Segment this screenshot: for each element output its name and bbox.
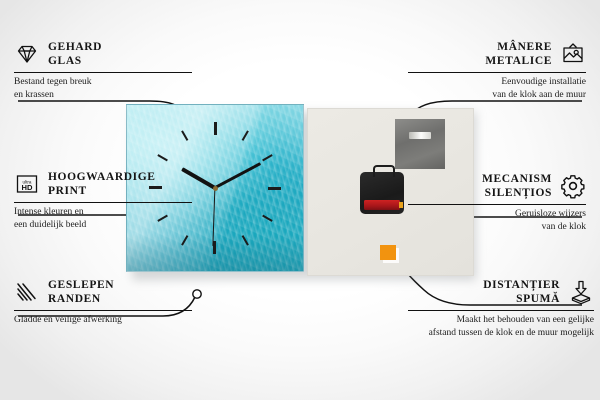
feature-distantier-spuma: DISTANȚIER SPUMĂ Maakt het behouden van …: [408, 278, 594, 339]
title-line-1: GESLEPEN: [48, 278, 114, 292]
desc-line-1: Gladde en veilige afwerking: [14, 314, 192, 327]
feature-head: DISTANȚIER SPUMĂ: [408, 278, 594, 310]
desc-line-2: een duidelijk beeld: [14, 219, 192, 232]
feature-head: ultra HD HOOGWAARDIGE PRINT: [14, 170, 192, 202]
feature-description: Intense kleuren en een duidelijk beeld: [14, 203, 192, 232]
desc-line-1: Bestand tegen breuk: [14, 76, 192, 89]
ultra-hd-icon: ultra HD: [14, 171, 40, 197]
clock-movement-part: [360, 172, 404, 214]
desc-line-2: van de klok aan de muur: [408, 89, 586, 102]
feature-title: HOOGWAARDIGE PRINT: [48, 170, 156, 199]
desc-line-2: en krassen: [14, 89, 192, 102]
feature-hoogwaardige-print: ultra HD HOOGWAARDIGE PRINT Intense kleu…: [14, 170, 192, 232]
feature-manere-metalice: MÂNERE METALICE Eenvoudige installatie v…: [408, 40, 586, 102]
gear-icon: [560, 173, 586, 199]
svg-text:HD: HD: [22, 184, 33, 193]
feature-geslepen-randen: GESLEPEN RANDEN Gladde en veilige afwerk…: [14, 278, 192, 327]
feature-mecanism-silentios: MECANISM SILENȚIOS Geruisloze wijzers va…: [408, 172, 586, 234]
feature-description: Eenvoudige installatie van de klok aan d…: [408, 73, 586, 102]
feature-description: Gladde en veilige afwerking: [14, 311, 192, 327]
infographic-canvas: GEHARD GLAS Bestand tegen breuk en krass…: [0, 0, 600, 400]
battery-part: [364, 200, 400, 210]
feature-gehard-glas: GEHARD GLAS Bestand tegen breuk en krass…: [14, 40, 192, 102]
picture-hanger-icon: [560, 41, 586, 67]
title-line-1: GEHARD: [48, 40, 102, 54]
desc-line-1: Intense kleuren en: [14, 206, 192, 219]
title-line-1: MECANISM: [482, 172, 552, 186]
feature-head: MECANISM SILENȚIOS: [408, 172, 586, 204]
desc-line-1: Eenvoudige installatie: [408, 76, 586, 89]
bevelled-edges-icon: [14, 279, 40, 305]
hour-tick: [214, 122, 216, 188]
feature-title: DISTANȚIER SPUMĂ: [483, 278, 560, 307]
diamond-icon: [14, 41, 40, 67]
title-line-2: RANDEN: [48, 292, 114, 306]
feature-title: MÂNERE METALICE: [485, 40, 552, 69]
feature-head: GESLEPEN RANDEN: [14, 278, 192, 310]
metal-hanger-part: [395, 119, 445, 169]
title-line-1: DISTANȚIER: [483, 278, 560, 292]
hour-tick: [215, 187, 281, 189]
clock-hub: [213, 186, 218, 191]
feature-description: Maakt het behouden van een gelijke afsta…: [408, 311, 594, 339]
title-line-2: PRINT: [48, 184, 156, 198]
feature-description: Geruisloze wijzers van de klok: [408, 205, 586, 234]
foam-spacer-part: [380, 245, 396, 260]
desc-line-2: van de klok: [408, 221, 586, 234]
feature-head: GEHARD GLAS: [14, 40, 192, 72]
desc-line-2: afstand tussen de klok en de muur mogeli…: [408, 327, 594, 339]
feature-title: GEHARD GLAS: [48, 40, 102, 69]
title-line-1: HOOGWAARDIGE: [48, 170, 156, 184]
title-line-2: METALICE: [485, 54, 552, 68]
connector-dot-randen: [193, 290, 201, 298]
feature-head: MÂNERE METALICE: [408, 40, 586, 72]
title-line-1: MÂNERE: [485, 40, 552, 54]
title-line-2: GLAS: [48, 54, 102, 68]
feature-description: Bestand tegen breuk en krassen: [14, 73, 192, 102]
desc-line-1: Geruisloze wijzers: [408, 208, 586, 221]
feature-title: GESLEPEN RANDEN: [48, 278, 114, 307]
title-line-2: SILENȚIOS: [482, 186, 552, 200]
title-line-2: SPUMĂ: [483, 292, 560, 306]
foam-spacer-icon: [568, 279, 594, 305]
desc-line-1: Maakt het behouden van een gelijke: [408, 314, 594, 326]
feature-title: MECANISM SILENȚIOS: [482, 172, 552, 201]
